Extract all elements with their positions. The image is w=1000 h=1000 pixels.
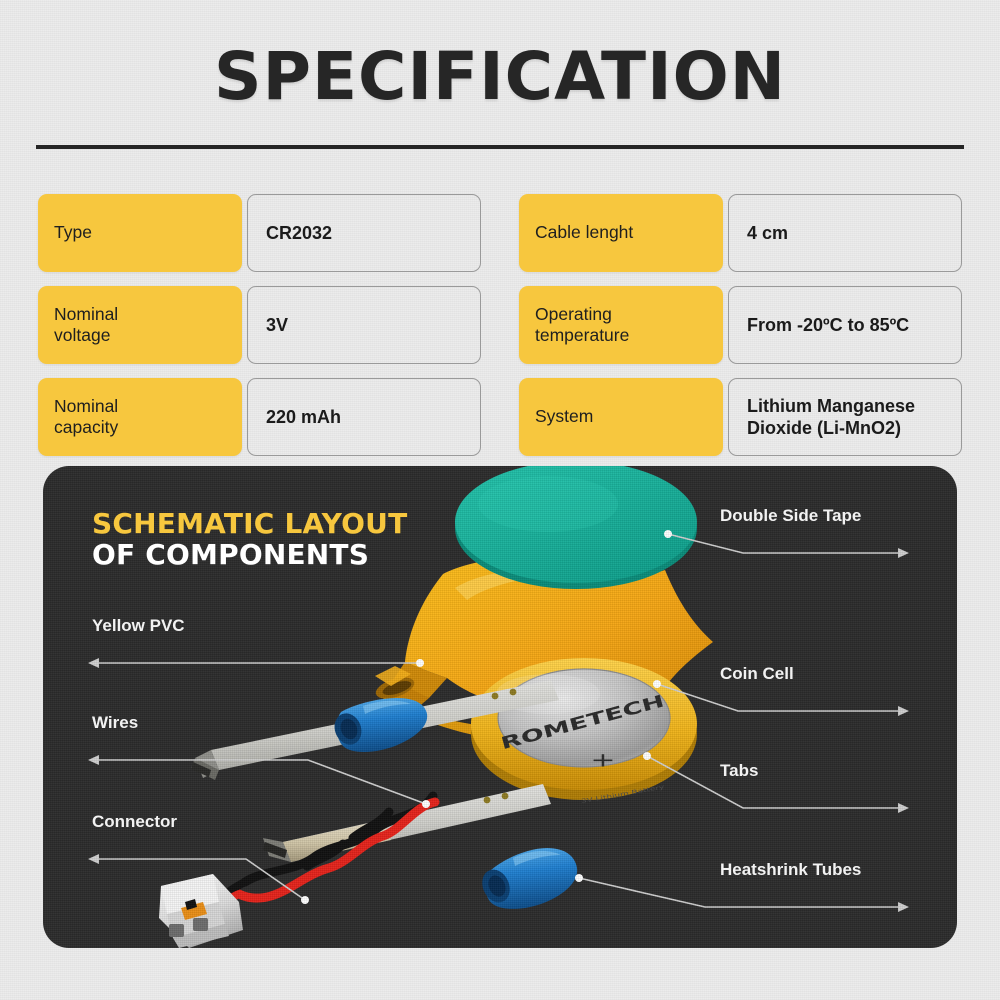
page-title: SPECIFICATION bbox=[0, 44, 1000, 110]
spec-value-cell: CR2032 bbox=[247, 194, 481, 272]
spec-key-line-2: temperature bbox=[535, 325, 629, 345]
title-divider bbox=[36, 145, 964, 149]
callout-label-coin-cell: Coin Cell bbox=[720, 664, 794, 684]
schematic-heading-line-2: OF COMPONENTS bbox=[92, 539, 407, 570]
callout-arrowheads-left bbox=[88, 658, 99, 864]
spec-value-line-1: Lithium Manganese bbox=[747, 396, 915, 416]
spec-key-cell: Operating temperature bbox=[519, 286, 723, 364]
table-row: Nominal voltage 3V bbox=[38, 286, 481, 364]
spec-key-line-2: voltage bbox=[54, 325, 110, 345]
spec-value-label: CR2032 bbox=[266, 222, 332, 245]
heatshrink-tube-lower-graphic bbox=[477, 848, 577, 909]
spec-key-line-2: capacity bbox=[54, 417, 118, 437]
callout-leader-lines-left bbox=[95, 663, 426, 900]
spec-key-label: Nominal capacity bbox=[54, 396, 118, 439]
specification-table: Type CR2032 Cable lenght 4 cm Nominal vo… bbox=[38, 194, 962, 456]
spec-value-label: Lithium Manganese Dioxide (Li-MnO2) bbox=[747, 395, 915, 440]
spec-value-cell: 220 mAh bbox=[247, 378, 481, 456]
spec-value-cell: Lithium Manganese Dioxide (Li-MnO2) bbox=[728, 378, 962, 456]
schematic-heading-line-1: SCHEMATIC LAYOUT bbox=[92, 508, 407, 539]
table-row: System Lithium Manganese Dioxide (Li-MnO… bbox=[519, 378, 962, 456]
table-row: Operating temperature From -20ºC to 85ºC bbox=[519, 286, 962, 364]
callout-label-wires: Wires bbox=[92, 713, 138, 733]
table-row: Type CR2032 bbox=[38, 194, 481, 272]
spec-key-label: Nominal voltage bbox=[54, 304, 118, 347]
double-side-tape-graphic bbox=[455, 466, 697, 589]
spec-key-cell: Nominal capacity bbox=[38, 378, 242, 456]
wires-graphic bbox=[217, 796, 435, 908]
coin-cell-graphic: ROMETECH + 3V Lithium Battery bbox=[471, 658, 697, 805]
heatshrink-tube-upper-graphic bbox=[330, 698, 427, 752]
spec-value-label: 3V bbox=[266, 314, 288, 337]
spec-key-label: Cable lenght bbox=[535, 222, 633, 243]
spec-key-label: System bbox=[535, 406, 593, 427]
spec-value-label: From -20ºC to 85ºC bbox=[747, 314, 909, 337]
spec-value-line-2: Dioxide (Li-MnO2) bbox=[747, 418, 901, 438]
connector-graphic bbox=[159, 874, 243, 948]
callout-label-double-side-tape: Double Side Tape bbox=[720, 506, 861, 526]
table-row: Nominal capacity 220 mAh bbox=[38, 378, 481, 456]
spec-key-cell: Type bbox=[38, 194, 242, 272]
callout-label-heatshrink-tubes: Heatshrink Tubes bbox=[720, 860, 861, 880]
spec-key-label: Type bbox=[54, 222, 92, 243]
spec-key-line-1: Nominal bbox=[54, 304, 118, 324]
spec-key-cell: Cable lenght bbox=[519, 194, 723, 272]
spec-key-cell: Nominal voltage bbox=[38, 286, 242, 364]
spec-value-cell: 3V bbox=[247, 286, 481, 364]
battery-polarity-text: + bbox=[590, 748, 615, 771]
table-row: Cable lenght 4 cm bbox=[519, 194, 962, 272]
callout-arrowheads-right bbox=[898, 548, 909, 912]
spec-key-cell: System bbox=[519, 378, 723, 456]
spec-value-cell: 4 cm bbox=[728, 194, 962, 272]
spec-value-cell: From -20ºC to 85ºC bbox=[728, 286, 962, 364]
spec-key-line-1: Operating bbox=[535, 304, 612, 324]
spec-key-label: Operating temperature bbox=[535, 304, 629, 347]
callout-label-tabs: Tabs bbox=[720, 761, 758, 781]
spec-key-line-1: Nominal bbox=[54, 396, 118, 416]
schematic-panel: ROMETECH + 3V Lithium Battery bbox=[43, 466, 957, 948]
page-title-container: SPECIFICATION bbox=[0, 44, 1000, 110]
callout-label-connector: Connector bbox=[92, 812, 177, 832]
spec-value-label: 220 mAh bbox=[266, 406, 341, 429]
callout-label-yellow-pvc: Yellow PVC bbox=[92, 616, 185, 636]
schematic-heading: SCHEMATIC LAYOUT OF COMPONENTS bbox=[92, 508, 407, 571]
spec-value-label: 4 cm bbox=[747, 222, 788, 245]
